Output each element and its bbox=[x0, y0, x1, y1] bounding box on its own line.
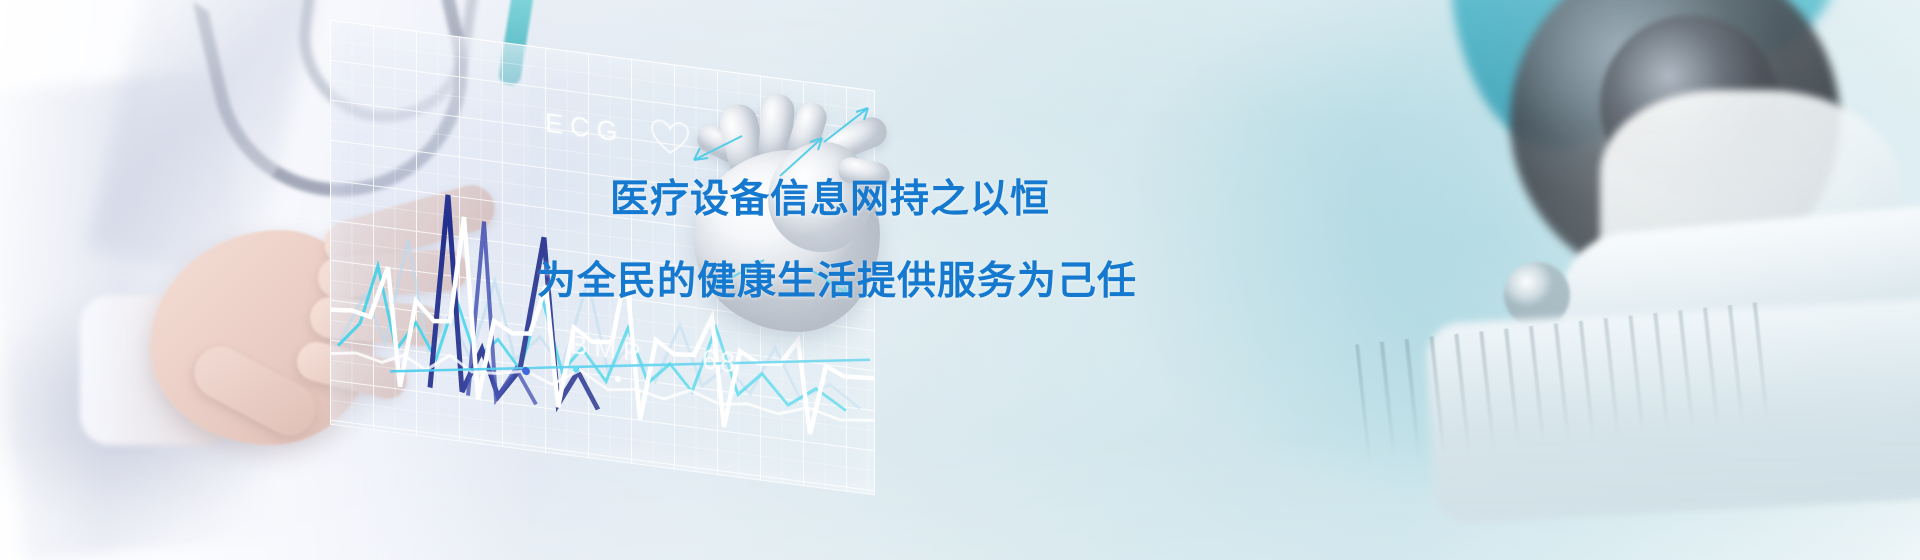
scope-haze bbox=[1230, 0, 1920, 560]
microscope-instrument bbox=[1230, 0, 1920, 560]
heart-pointer-arrows bbox=[672, 98, 912, 348]
medical-hero-banner: ECG BMP 68 S C bbox=[0, 0, 1920, 560]
3d-heart-model bbox=[672, 98, 912, 348]
